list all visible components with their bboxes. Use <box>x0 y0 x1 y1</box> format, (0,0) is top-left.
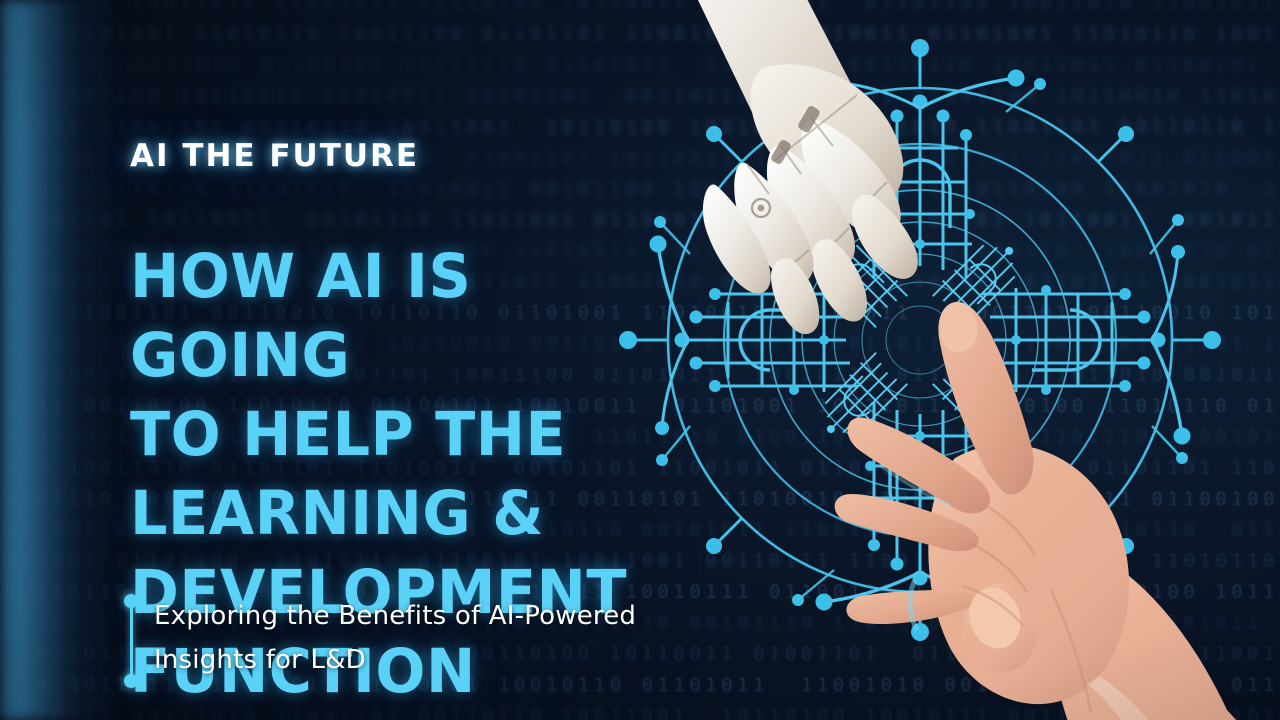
eyebrow-text: AI THE FUTURE <box>130 138 419 174</box>
slide-canvas: 01101100 10011010 11001011 00110100 1011… <box>0 0 1280 720</box>
ai-handshake-artwork <box>600 0 1280 720</box>
subtitle-text: Exploring the Benefits of AI-Powered Ins… <box>154 594 636 682</box>
cyan-vertical-rule-with-dots-icon <box>124 594 138 688</box>
rule-bottom-dot-icon <box>124 674 138 688</box>
subtitle-block: Exploring the Benefits of AI-Powered Ins… <box>124 594 636 688</box>
human-hand-image <box>855 290 1275 720</box>
rule-line <box>130 600 133 682</box>
